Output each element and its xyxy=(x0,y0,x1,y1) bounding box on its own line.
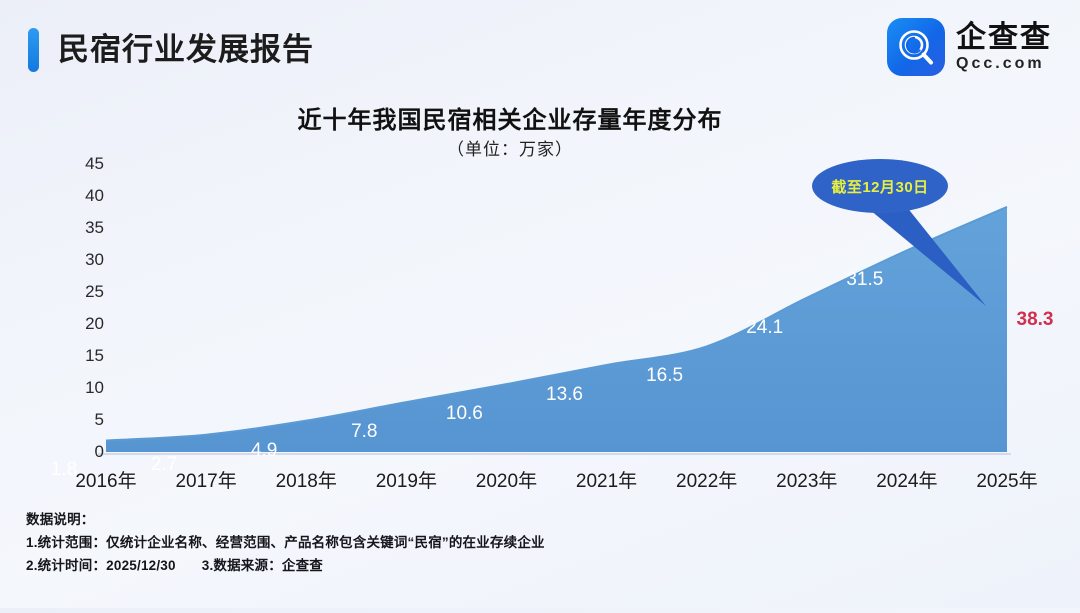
data-point-label: 31.5 xyxy=(846,269,883,291)
data-point-label: 24.1 xyxy=(746,317,783,339)
data-point-label: 4.9 xyxy=(251,440,277,462)
data-point-label: 2.7 xyxy=(151,454,177,476)
x-axis-tick: 2016年 xyxy=(75,466,136,493)
callout-label: 截至12月30日 xyxy=(815,176,945,197)
callout-annotation xyxy=(812,159,986,306)
x-axis-tick: 2020年 xyxy=(476,466,537,493)
footer-note-2a: 2.统计时间：2025/12/30 xyxy=(26,558,176,573)
x-axis-tick: 2021年 xyxy=(576,466,637,493)
brand-logo: 企查查 Qcc.com xyxy=(887,16,1052,78)
qcc-magnifier-icon xyxy=(887,18,945,76)
footer-notes: 数据说明： 1.统计范围：仅统计企业名称、经营范围、产品名称包含关键词“民宿”的… xyxy=(26,508,545,577)
data-point-label: 38.3 xyxy=(1017,309,1054,331)
x-axis-tick: 2023年 xyxy=(776,466,837,493)
data-point-label: 7.8 xyxy=(351,421,377,443)
x-axis-tick: 2025年 xyxy=(976,466,1037,493)
y-axis-tick: 35 xyxy=(58,218,104,238)
x-axis-tick: 2018年 xyxy=(276,466,337,493)
brand-wordmark: 企查查 Qcc.com xyxy=(956,22,1052,73)
y-axis-tick: 0 xyxy=(58,442,104,462)
y-axis-tick: 40 xyxy=(58,186,104,206)
x-axis-tick: 2017年 xyxy=(175,466,236,493)
x-axis-tick: 2024年 xyxy=(876,466,937,493)
footer-note-2b: 3.数据来源：企查查 xyxy=(202,558,323,573)
y-axis-tick: 30 xyxy=(58,250,104,270)
area-series-fill xyxy=(106,207,1007,452)
page-title: 民宿行业发展报告 xyxy=(58,28,314,72)
data-point-label: 1.8 xyxy=(51,459,77,481)
y-axis-tick: 20 xyxy=(58,314,104,334)
title-accent-bar xyxy=(28,28,39,72)
brand-name-en: Qcc.com xyxy=(956,55,1052,73)
page-header: 民宿行业发展报告 企查查 Qcc.com xyxy=(0,0,1080,92)
data-point-label: 16.5 xyxy=(646,365,683,387)
chart-title: 近十年我国民宿相关企业存量年度分布 xyxy=(0,100,1020,135)
x-axis-tick: 2019年 xyxy=(376,466,437,493)
x-axis-tick: 2022年 xyxy=(676,466,737,493)
y-axis-tick: 15 xyxy=(58,346,104,366)
footer-note-2: 2.统计时间：2025/12/303.数据来源：企查查 xyxy=(26,554,545,577)
y-axis-tick: 10 xyxy=(58,378,104,398)
y-axis-tick: 25 xyxy=(58,282,104,302)
callout-pointer xyxy=(858,200,986,306)
brand-name-cn: 企查查 xyxy=(956,22,1052,54)
chart-subtitle: （单位：万家） xyxy=(0,135,1020,160)
footer-note-1: 1.统计范围：仅统计企业名称、经营范围、产品名称包含关键词“民宿”的在业存续企业 xyxy=(26,531,545,554)
callout-bubble xyxy=(812,159,948,213)
footer-heading: 数据说明： xyxy=(26,508,545,531)
area-series-line xyxy=(106,207,1007,441)
data-point-label: 13.6 xyxy=(546,384,583,406)
y-axis-tick: 5 xyxy=(58,410,104,430)
data-point-label: 10.6 xyxy=(446,403,483,425)
